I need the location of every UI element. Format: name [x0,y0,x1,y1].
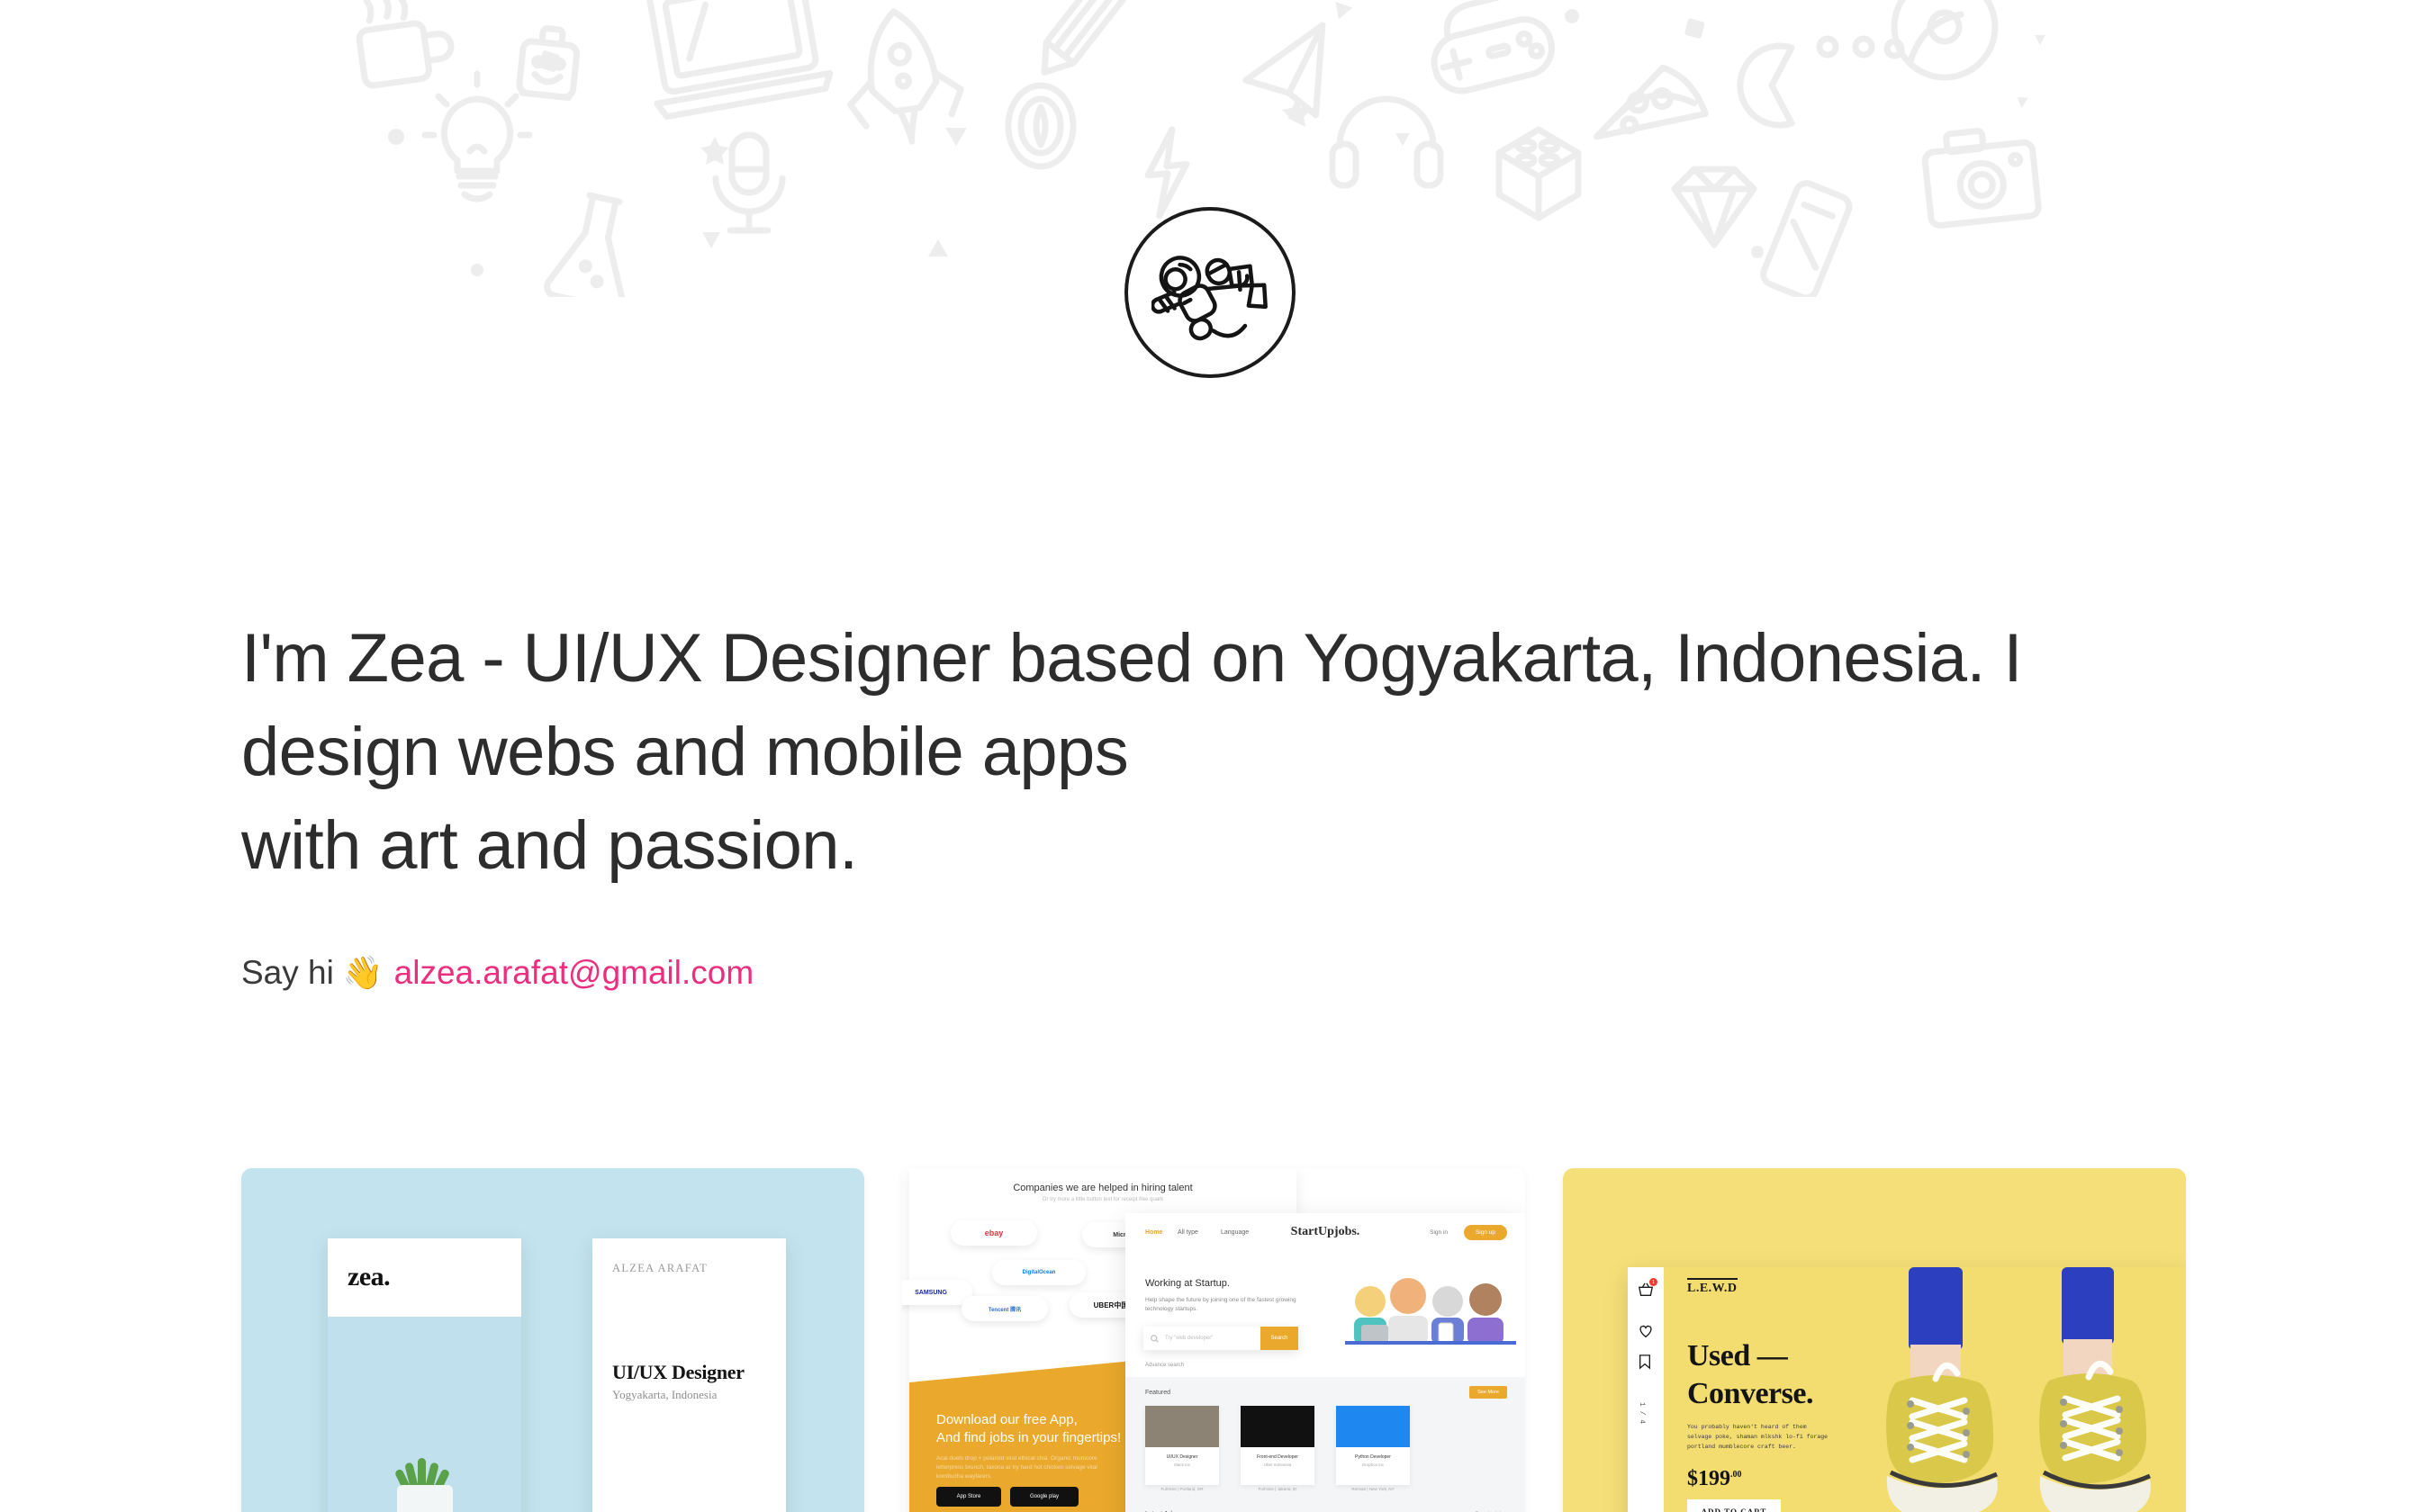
add-to-cart-button[interactable]: ADD TO CART [1687,1499,1781,1512]
pacman-dot-icon [1887,41,1901,56]
waving-hand-icon: 👋 [343,952,384,994]
hero-section: I'm Zea - UI/UX Designer based on Yogyak… [241,612,2132,994]
lewd-mockup: 1 1 / 4 L.E.W.D Used — Converse. You pro… [1628,1267,2186,1512]
paper-plane-icon [1238,25,1341,128]
portfolio-card-startupjobs[interactable]: Companies we are helped in hiring talent… [902,1168,1525,1512]
job-title: Front-end Developer [1241,1454,1314,1460]
business-card-back: ALZEA ARAFAT UI/UX Designer Yogyakarta, … [592,1238,786,1512]
business-card-front: zea. [328,1238,521,1512]
team-illustration [1345,1276,1516,1345]
mockup-navbar: Home All type Language StartUpjobs. Sign… [1125,1213,1525,1251]
person-location: Yogyakarta, Indonesia [612,1388,717,1402]
job-card[interactable]: UI/UX Designer Slack Inc Full-time | Por… [1145,1406,1219,1485]
job-card[interactable]: Front-end Developer Uber Indonesia Full-… [1241,1406,1314,1485]
job-thumbnail [1241,1406,1314,1447]
mockup-jobs-page: Home All type Language StartUpjobs. Sign… [1125,1213,1525,1512]
pencil-icon [1031,0,1134,83]
search-icon [1151,1335,1159,1343]
cd-icon [1894,0,1995,77]
mockup-hero-title: Working at Startup. [1145,1278,1230,1289]
app-store-button[interactable]: App Store [936,1487,1001,1507]
mockup-title: Companies we are helped in hiring talent [909,1183,1296,1193]
lego-brick-icon [1499,130,1578,218]
cart-badge: 1 [1649,1278,1657,1286]
lewd-sidebar: 1 1 / 4 [1628,1267,1664,1512]
bookmark-icon[interactable] [1638,1354,1652,1370]
plant-photo [328,1317,521,1512]
contact-line: Say hi 👋 alzea.arafat@gmail.com [241,952,2132,994]
job-card[interactable]: Python Developer Dropbox Inc Remote | Ne… [1336,1406,1410,1485]
search-button[interactable]: Search [1260,1327,1298,1350]
product-price: $199.00 [1687,1467,1742,1491]
job-company: Dropbox Inc [1336,1462,1410,1467]
lightbulb-icon [425,74,529,199]
job-thumbnail [1336,1406,1410,1447]
price-cents: .00 [1730,1470,1742,1480]
job-meta: Full-time | Portland, OR [1145,1487,1219,1491]
mockup-hero-body: Help shape the future by joining one of … [1145,1296,1303,1314]
lewd-content: L.E.W.D Used — Converse. You probably ha… [1664,1267,2186,1512]
portfolio-card-branding[interactable]: zea. ALZEA ARAFAT UI/UX Designer Yogyaka… [241,1168,864,1512]
company-pill: SAMSUNG [902,1280,972,1305]
lightning-icon [1143,129,1192,217]
pacman-dot-icon [1856,39,1872,55]
brand-part-2: jobs. [1334,1225,1359,1238]
nav-home[interactable]: Home [1145,1229,1162,1236]
portfolio-page: I'm Zea - UI/UX Designer based on Yogyak… [0,0,2420,1512]
featured-label: Featured [1145,1390,1170,1396]
featured-section: Featured See More UI/UX Designer Slack I… [1125,1377,1525,1512]
person-role: UI/UX Designer [612,1361,745,1384]
nav-sign-up-button[interactable]: Sign up [1464,1225,1507,1240]
product-description: You probably haven't heard of them selva… [1687,1422,1831,1452]
company-pill: DigitalOcean [992,1260,1086,1285]
lego-head-icon [519,26,579,98]
job-title: UI/UX Designer [1145,1454,1219,1460]
astronaut-logo[interactable] [1124,207,1296,378]
portfolio-card-lewd[interactable]: 1 1 / 4 L.E.W.D Used — Converse. You pro… [1563,1168,2186,1512]
job-company: Slack Inc [1145,1462,1219,1467]
company-pill: Tencent 腾讯 [962,1296,1048,1321]
laptop-icon [637,0,833,118]
email-link[interactable]: alzea.arafat@gmail.com [394,952,754,994]
logo-container [0,207,2420,378]
job-meta: Full-time | Jakarta, ID [1241,1487,1314,1491]
nav-all-type[interactable]: All type [1178,1229,1198,1236]
lewd-logo: L.E.W.D [1687,1278,1738,1296]
see-more-button[interactable]: See More [1469,1386,1507,1399]
advance-search-toggle[interactable]: Advance search [1145,1363,1184,1368]
pacman-icon [1740,46,1792,125]
gamepad-icon [1422,0,1558,96]
search-placeholder: Try "web developer" [1165,1336,1213,1341]
product-title: Used — Converse. [1687,1337,1813,1413]
mockup-subtitle: Or try more a little button text for rec… [909,1197,1296,1202]
zea-logo: zea. [348,1262,390,1292]
google-play-button[interactable]: Google play [1010,1487,1079,1507]
mockup-search-bar[interactable]: Try "web developer" Search [1143,1327,1298,1350]
brand-part-1: StartUp [1291,1225,1334,1238]
job-title: Python Developer [1336,1454,1410,1460]
price-main: $199 [1687,1467,1730,1490]
astronaut-icon [1151,234,1269,351]
contact-label: Say hi [241,952,334,994]
page-title: I'm Zea - UI/UX Designer based on Yogyak… [241,612,2132,893]
converse-shoes-photo [1853,1267,2186,1512]
job-meta: Remote | New York, NY [1336,1487,1410,1491]
coffee-mug-icon [354,0,455,86]
pacman-dot-icon [1820,39,1836,55]
job-company: Uber Indonesia [1241,1462,1314,1467]
slide-counter: 1 / 4 [1638,1402,1646,1424]
headphones-icon [1332,99,1440,185]
person-name: ALZEA ARAFAT [612,1262,708,1275]
nav-language[interactable]: Language [1221,1229,1249,1236]
plant-pot [397,1485,453,1512]
promo-body: Acai duels drop + polaroid viral ethical… [936,1454,1098,1481]
heart-icon[interactable] [1638,1323,1654,1339]
promo-heading: Download our free App, And find jobs in … [936,1411,1121,1447]
nav-sign-in[interactable]: Sign in [1430,1229,1448,1236]
portfolio-cards: zea. ALZEA ARAFAT UI/UX Designer Yogyaka… [241,1168,2186,1512]
company-pill: ebay [951,1220,1037,1246]
compass-icon [1008,85,1073,166]
startupjobs-brand: StartUpjobs. [1291,1225,1360,1239]
pizza-icon [1597,60,1711,151]
job-thumbnail [1145,1406,1219,1447]
rocket-icon [838,4,967,149]
